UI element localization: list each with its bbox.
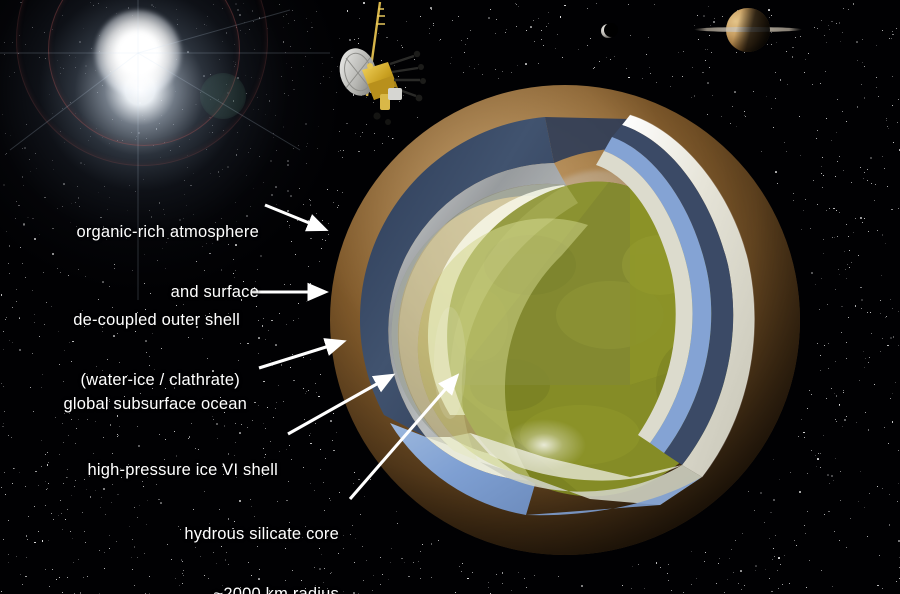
label-core-line-2: ~2000 km radius <box>119 584 339 594</box>
annotation-layer: organic-rich atmosphere and surface de-c… <box>0 0 900 594</box>
arrow-atmosphere <box>265 205 324 229</box>
label-core: hydrous silicate core ~2000 km radius <box>119 484 339 594</box>
arrow-ocean <box>259 342 342 368</box>
label-ice-vi-line-1: high-pressure ice VI shell <box>28 460 278 480</box>
arrow-core <box>350 377 456 499</box>
label-ocean-line-1: global subsurface ocean <box>14 394 247 414</box>
titan-interior-illustration: organic-rich atmosphere and surface de-c… <box>0 0 900 594</box>
label-atmosphere-line-1: organic-rich atmosphere <box>26 222 259 242</box>
label-outer-shell-line-1: de-coupled outer shell <box>30 310 240 330</box>
arrow-ice-vi <box>288 376 391 434</box>
label-core-line-1: hydrous silicate core <box>119 524 339 544</box>
